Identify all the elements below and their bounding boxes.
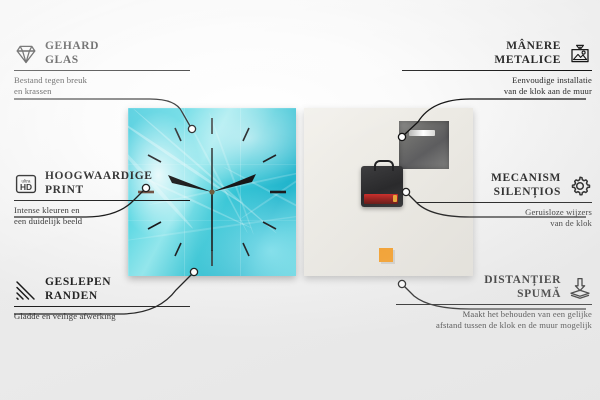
feature-header: GESLEPEN RANDEN	[14, 276, 190, 303]
feature-title: GESLEPEN RANDEN	[45, 276, 111, 303]
arrow-down-stack-icon	[568, 276, 592, 300]
divider	[396, 304, 592, 305]
feature-description: Bestand tegen breuk en krassen	[14, 75, 190, 97]
divider	[14, 200, 190, 201]
feature-manere-metalice[interactable]: MÂNERE METALICE Eenvoudige installatie v…	[402, 40, 592, 97]
beveled-edge-icon	[14, 278, 38, 302]
feature-header: DISTANȚIER SPUMĂ	[396, 274, 592, 301]
feature-title: MÂNERE METALICE	[494, 40, 561, 67]
foam-spacer	[379, 248, 393, 262]
feature-title: HOOGWAARDIGE PRINT	[45, 170, 153, 197]
feature-title: GEHARD GLAS	[45, 40, 99, 67]
divider	[402, 70, 592, 71]
feature-mecanism-silentios[interactable]: MECANISM SILENȚIOS Geruisloze wijzers va…	[416, 172, 592, 229]
feature-header: ultra HD HOOGWAARDIGE PRINT	[14, 170, 190, 197]
feature-description: Eenvoudige installatie van de klok aan d…	[402, 75, 592, 97]
feature-header: MÂNERE METALICE	[402, 40, 592, 67]
feature-distantier-spuma[interactable]: DISTANȚIER SPUMĂ Maakt het behouden van …	[396, 274, 592, 331]
ultra-hd-icon: ultra HD	[14, 172, 38, 196]
svg-text:HD: HD	[20, 182, 32, 192]
feature-header: GEHARD GLAS	[14, 40, 190, 67]
divider	[14, 70, 190, 71]
divider	[416, 202, 592, 203]
diamond-icon	[14, 42, 38, 66]
infographic-canvas: GEHARD GLAS Bestand tegen breuk en krass…	[0, 0, 600, 400]
feature-title: MECANISM SILENȚIOS	[491, 172, 561, 199]
divider	[14, 306, 190, 307]
feature-description: Geruisloze wijzers van de klok	[416, 207, 592, 229]
feature-description: Gladde en veilige afwerking	[14, 311, 190, 322]
battery	[364, 194, 398, 204]
feature-description: Maakt het behouden van een gelijke afsta…	[396, 309, 592, 331]
feature-title: DISTANȚIER SPUMĂ	[484, 274, 561, 301]
feature-header: MECANISM SILENȚIOS	[416, 172, 592, 199]
gear-icon	[568, 174, 592, 198]
quartz-mechanism-box	[361, 166, 403, 207]
feature-hoogwaardige-print[interactable]: ultra HD HOOGWAARDIGE PRINT Intense kleu…	[14, 170, 190, 227]
feature-geslepen-randen[interactable]: GESLEPEN RANDEN Gladde en veilige afwerk…	[14, 276, 190, 322]
feature-gehard-glas[interactable]: GEHARD GLAS Bestand tegen breuk en krass…	[14, 40, 190, 97]
picture-hanger-icon	[568, 42, 592, 66]
metal-hanger-plate	[399, 121, 449, 169]
hanger-loop	[374, 160, 394, 171]
feature-description: Intense kleuren en een duidelijk beeld	[14, 205, 190, 227]
